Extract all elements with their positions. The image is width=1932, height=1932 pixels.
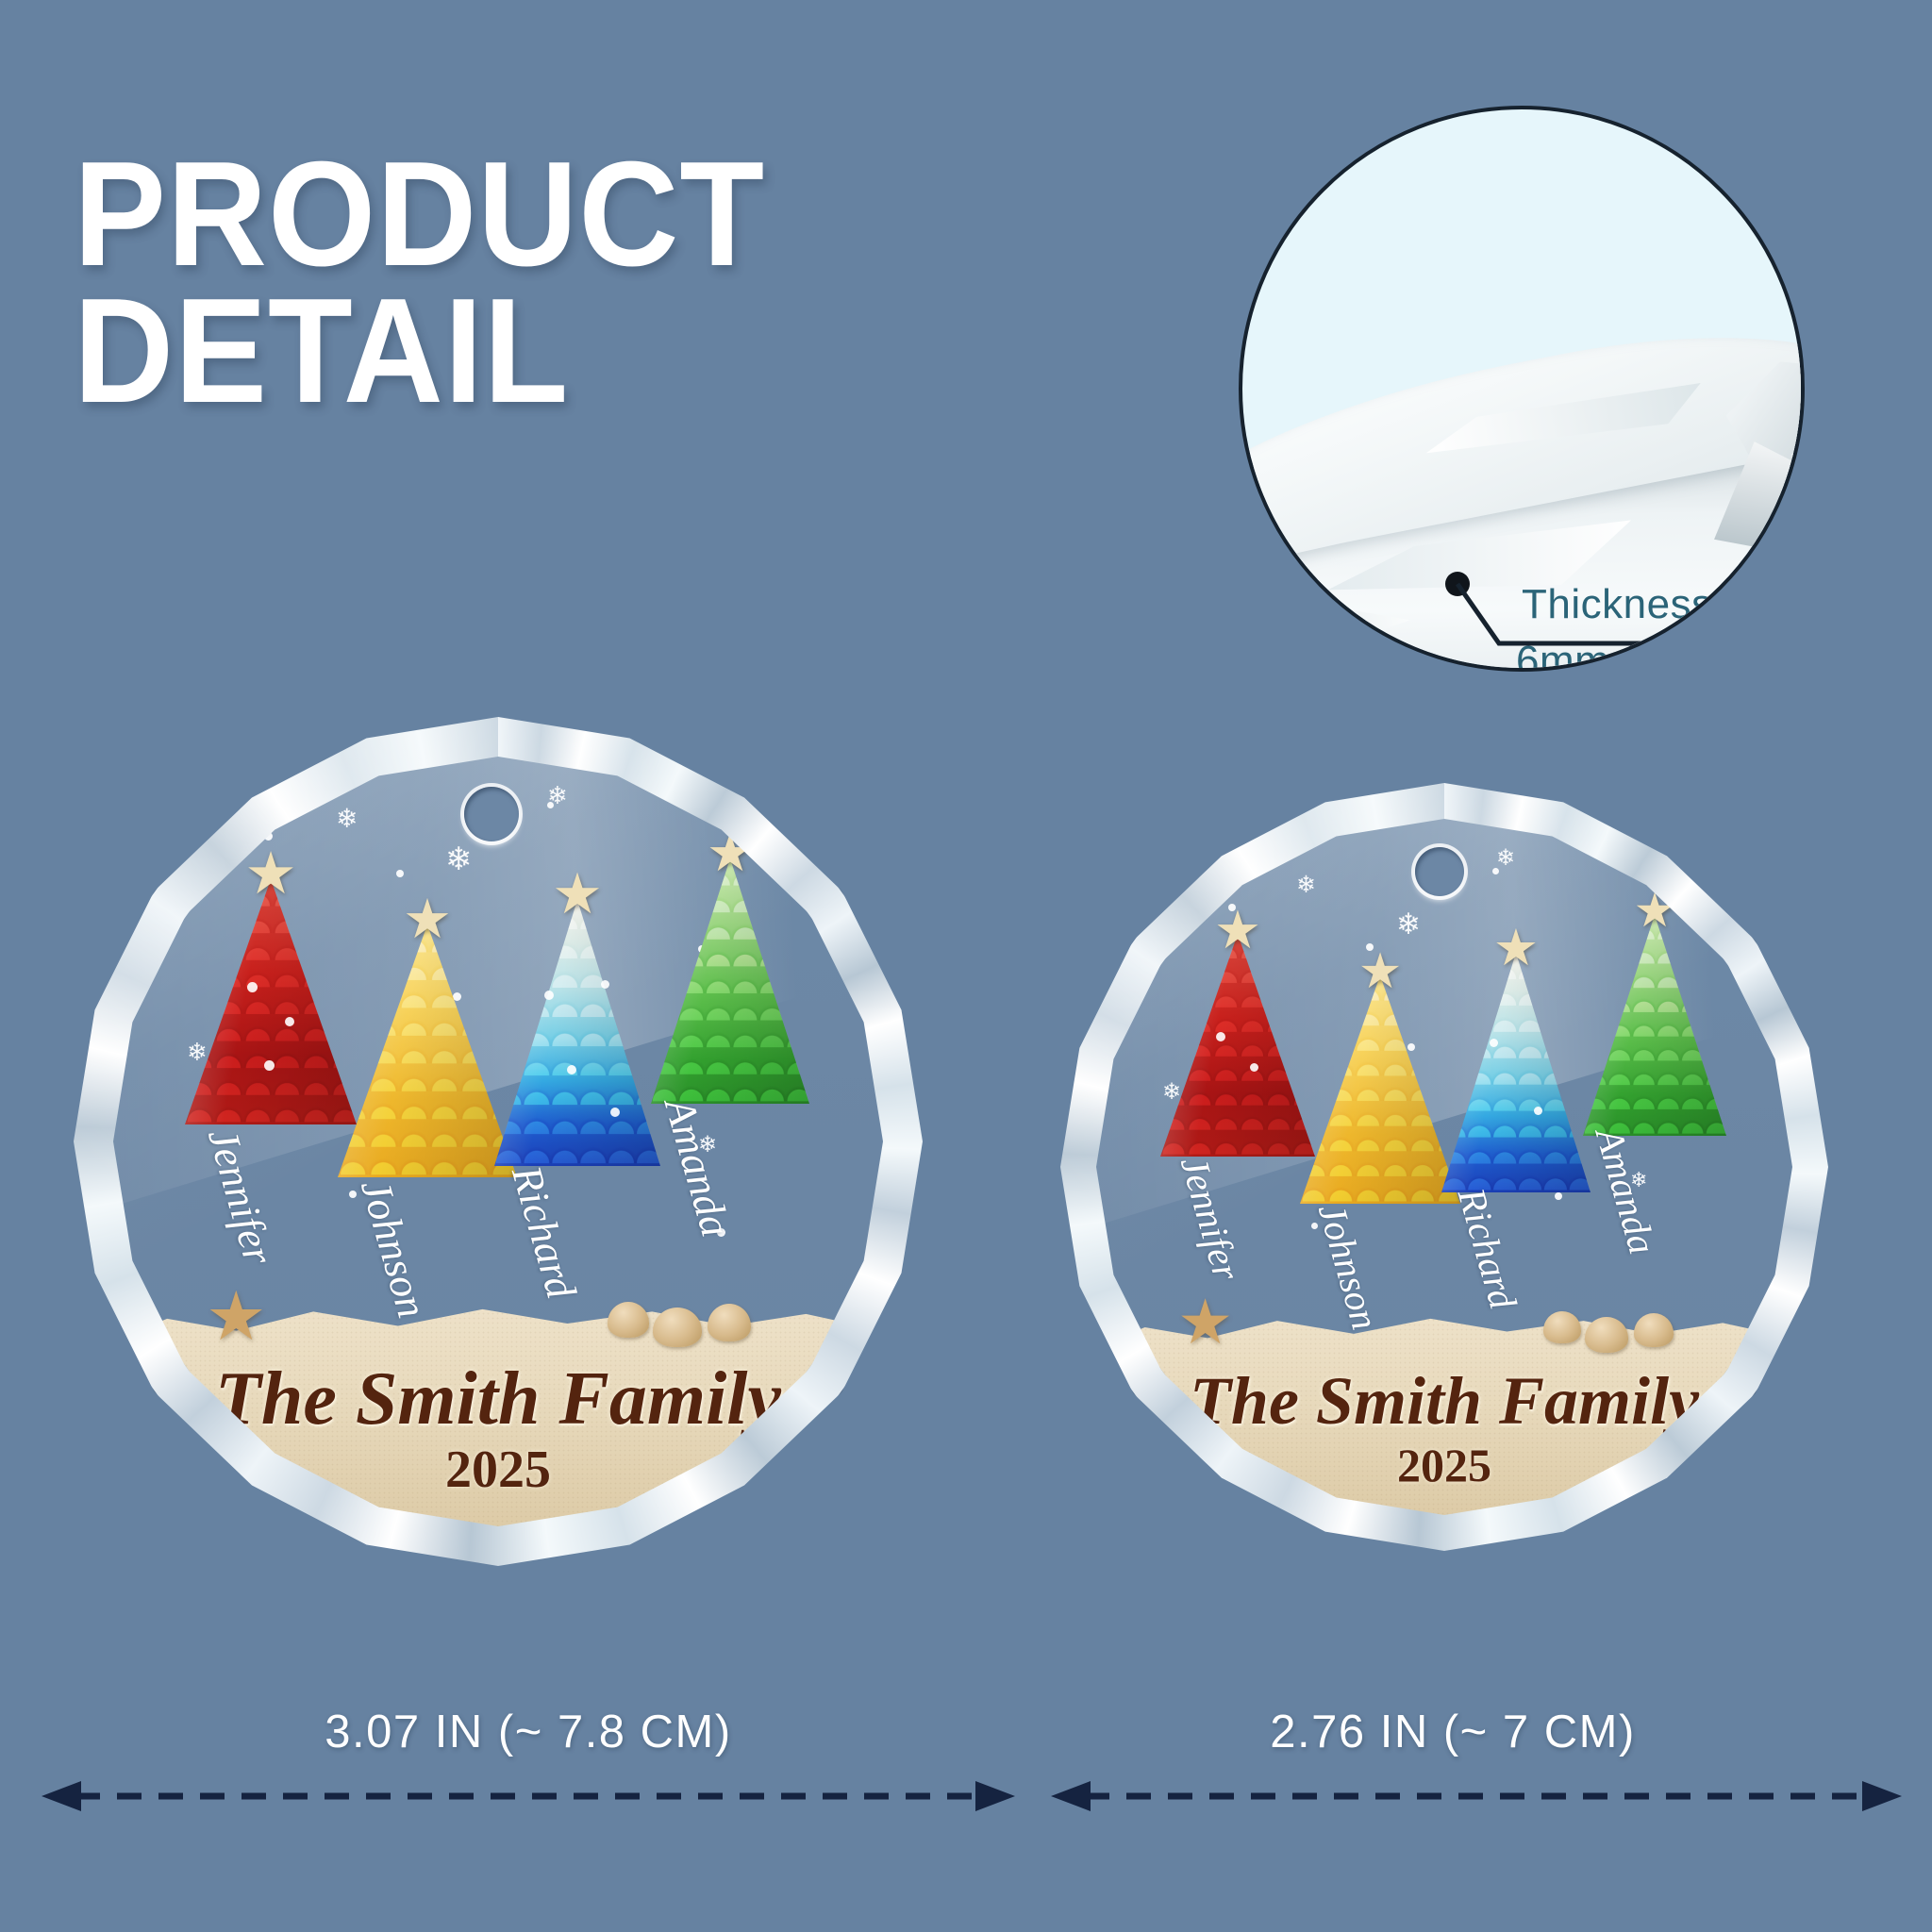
- tree-amanda: ★: [651, 858, 809, 1104]
- snowflake-icon: ❄: [547, 783, 568, 808]
- snowflake-icon: ❄: [1396, 909, 1421, 939]
- starfish-topper-icon: ★: [1493, 923, 1539, 974]
- thickness-value: 6mm: [1516, 638, 1609, 672]
- shell-icon: [1543, 1311, 1581, 1343]
- tree-ornament: [1534, 1107, 1542, 1115]
- tree-ornament: [544, 991, 554, 1000]
- snowflake-icon: ❄: [336, 806, 358, 832]
- person-name-1: Jennifer: [198, 1123, 284, 1270]
- tree-shading: [185, 879, 357, 1124]
- tree-johnson: ★: [1300, 975, 1460, 1204]
- tree-shading: [494, 900, 660, 1166]
- shell-icon: [708, 1304, 751, 1341]
- tree-ornament: [601, 980, 609, 989]
- person-name-3: Richard: [1449, 1183, 1526, 1314]
- person-name-2: Johnson: [351, 1174, 437, 1324]
- tree-jennifer: ★: [1160, 934, 1315, 1157]
- thickness-label: Thickness: [1522, 581, 1713, 628]
- snow-dot: [1555, 1192, 1562, 1200]
- starfish-topper-icon: ★: [403, 892, 452, 947]
- tree-richard: ★: [1441, 953, 1591, 1192]
- hang-hole-icon: [464, 787, 519, 841]
- person-name-4: Amanda: [655, 1092, 741, 1242]
- tree-shading: [651, 858, 809, 1104]
- product-detail-canvas: PRODUCT DETAIL Thickness 6mm: [0, 0, 1932, 1932]
- snow-dot: [396, 870, 404, 877]
- starfish-icon: ★: [1177, 1291, 1233, 1353]
- person-name-1: Jennifer: [1172, 1151, 1250, 1285]
- shell-icon: [1585, 1317, 1628, 1353]
- tree-ornament: [1250, 1063, 1258, 1072]
- starfish-topper-icon: ★: [1214, 904, 1261, 957]
- tree-ornament: [285, 1017, 294, 1026]
- tree-richard: ★: [494, 900, 660, 1166]
- page-title-line-2: DETAIL: [74, 283, 765, 420]
- snowflake-icon: ❄: [1496, 847, 1515, 870]
- tree-shading: [1160, 934, 1315, 1157]
- hang-hole-icon: [1415, 847, 1464, 896]
- tree-shading: [1441, 953, 1591, 1192]
- tree-amanda: ★: [1583, 915, 1726, 1136]
- tree-ornament: [1216, 1032, 1225, 1041]
- shell-icon: [653, 1307, 702, 1347]
- tree-shading: [1583, 915, 1726, 1136]
- dimension-arrow-small: [1047, 1777, 1906, 1815]
- starfish-icon: ★: [206, 1283, 267, 1351]
- tree-ornament: [247, 982, 258, 992]
- starfish-topper-icon: ★: [1358, 947, 1403, 996]
- tree-jennifer: ★: [185, 879, 357, 1124]
- tree-shading: [338, 924, 517, 1177]
- snowflake-icon: ❄: [445, 843, 473, 875]
- person-name-2: Johnson: [1309, 1198, 1389, 1335]
- shell-icon: [1634, 1313, 1674, 1347]
- tree-johnson: ★: [338, 924, 517, 1177]
- person-name-4: Amanda: [1587, 1123, 1666, 1259]
- page-title: PRODUCT DETAIL: [74, 146, 765, 421]
- snowflake-icon: ❄: [1296, 874, 1316, 897]
- dimension-label-large: 3.07 IN (~ 7.8 CM): [38, 1706, 1019, 1758]
- ornament-small[interactable]: ❄ ❄ ❄ ❄ ❄ ★ Jennifer ★ Johnson: [1060, 783, 1828, 1551]
- starfish-topper-icon: ★: [552, 866, 603, 923]
- thickness-detail-circle: Thickness 6mm: [1239, 106, 1805, 672]
- person-name-3: Richard: [502, 1160, 586, 1304]
- tree-ornament: [1490, 1039, 1498, 1047]
- tree-shading: [1300, 975, 1460, 1204]
- ornament-large[interactable]: ❄ ❄ ❄ ❄ ❄ ★ Jennifer ★: [74, 717, 923, 1566]
- shell-icon: [608, 1302, 649, 1338]
- starfish-topper-icon: ★: [244, 845, 297, 904]
- page-title-line-1: PRODUCT: [74, 146, 765, 283]
- dimension-label-small: 2.76 IN (~ 7 CM): [1000, 1706, 1906, 1758]
- dimension-arrow-large: [38, 1777, 1019, 1815]
